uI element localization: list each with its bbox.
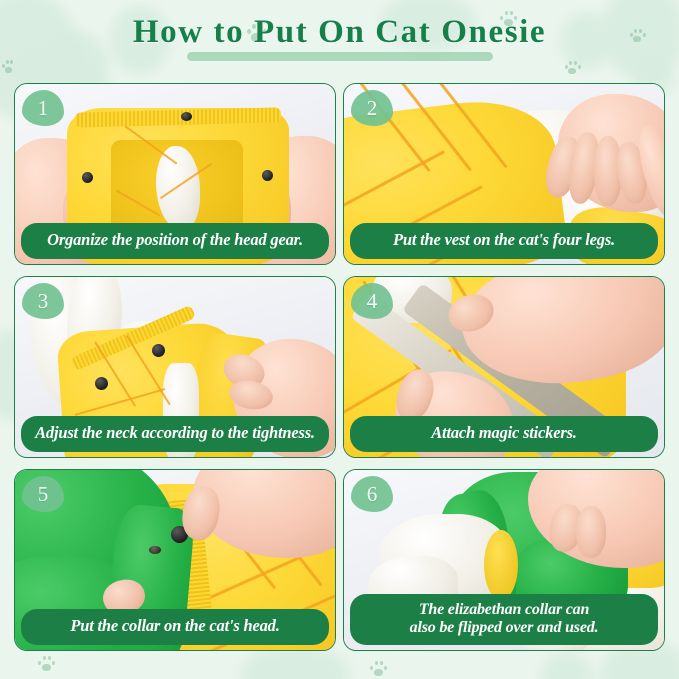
snap-button-icon xyxy=(82,172,93,183)
step-caption-1: Organize the position of the head gear. xyxy=(21,223,329,259)
title-area: How to Put On Cat Onesie xyxy=(0,0,679,80)
step-card-6[interactable]: 6 The elizabethan collar can also be fli… xyxy=(343,469,665,651)
snap-button-icon xyxy=(262,170,273,181)
step-card-1[interactable]: 1 Organize the position of the head gear… xyxy=(14,83,336,265)
step-number: 6 xyxy=(367,484,378,505)
caption-line: The elizabethan collar can xyxy=(410,601,599,619)
step-card-4[interactable]: 4 Attach magic stickers. xyxy=(343,276,665,458)
step-badge-3: 3 xyxy=(22,283,64,319)
caption-line: Adjust the neck according to the tightne… xyxy=(35,424,315,442)
step-card-2[interactable]: 2 Put the vest on the cat's four legs. xyxy=(343,83,665,265)
snap-button-icon xyxy=(152,344,165,357)
paw-print-icon xyxy=(38,655,56,673)
step-number: 3 xyxy=(38,291,49,312)
step-badge-2: 2 xyxy=(351,90,393,126)
step-number: 2 xyxy=(367,98,378,119)
step-card-3[interactable]: 3 Adjust the neck according to the tight… xyxy=(14,276,336,458)
step-number: 4 xyxy=(367,291,378,312)
step-number: 5 xyxy=(38,484,49,505)
title-underline-accent xyxy=(187,52,493,61)
snap-button-icon xyxy=(181,112,192,121)
step-badge-4: 4 xyxy=(351,283,393,319)
step-caption-2: Put the vest on the cat's four legs. xyxy=(350,223,658,259)
step-caption-5: Put the collar on the cat's head. xyxy=(21,609,329,645)
paw-print-icon xyxy=(370,660,388,678)
bg-blob xyxy=(540,652,594,679)
caption-line: Attach magic stickers. xyxy=(431,424,576,442)
step-badge-1: 1 xyxy=(22,90,64,126)
snap-button-icon xyxy=(95,377,108,390)
caption-line: Organize the position of the head gear. xyxy=(47,231,303,249)
step-card-5[interactable]: 5 Put the collar on the cat's head. xyxy=(14,469,336,651)
step-caption-6: The elizabethan collar can also be flipp… xyxy=(350,594,658,645)
step-badge-5: 5 xyxy=(22,476,64,512)
caption-line: also be flipped over and used. xyxy=(410,619,599,637)
step-badge-6: 6 xyxy=(351,476,393,512)
step-caption-3: Adjust the neck according to the tightne… xyxy=(21,416,329,452)
steps-grid: 1 Organize the position of the head gear… xyxy=(14,83,665,651)
step-number: 1 xyxy=(38,98,49,119)
caption-line: Put the collar on the cat's head. xyxy=(70,617,279,635)
snap-button-icon xyxy=(149,546,161,554)
caption-line: Put the vest on the cat's four legs. xyxy=(393,231,615,249)
step-caption-4: Attach magic stickers. xyxy=(350,416,658,452)
page-title: How to Put On Cat Onesie xyxy=(133,14,546,51)
